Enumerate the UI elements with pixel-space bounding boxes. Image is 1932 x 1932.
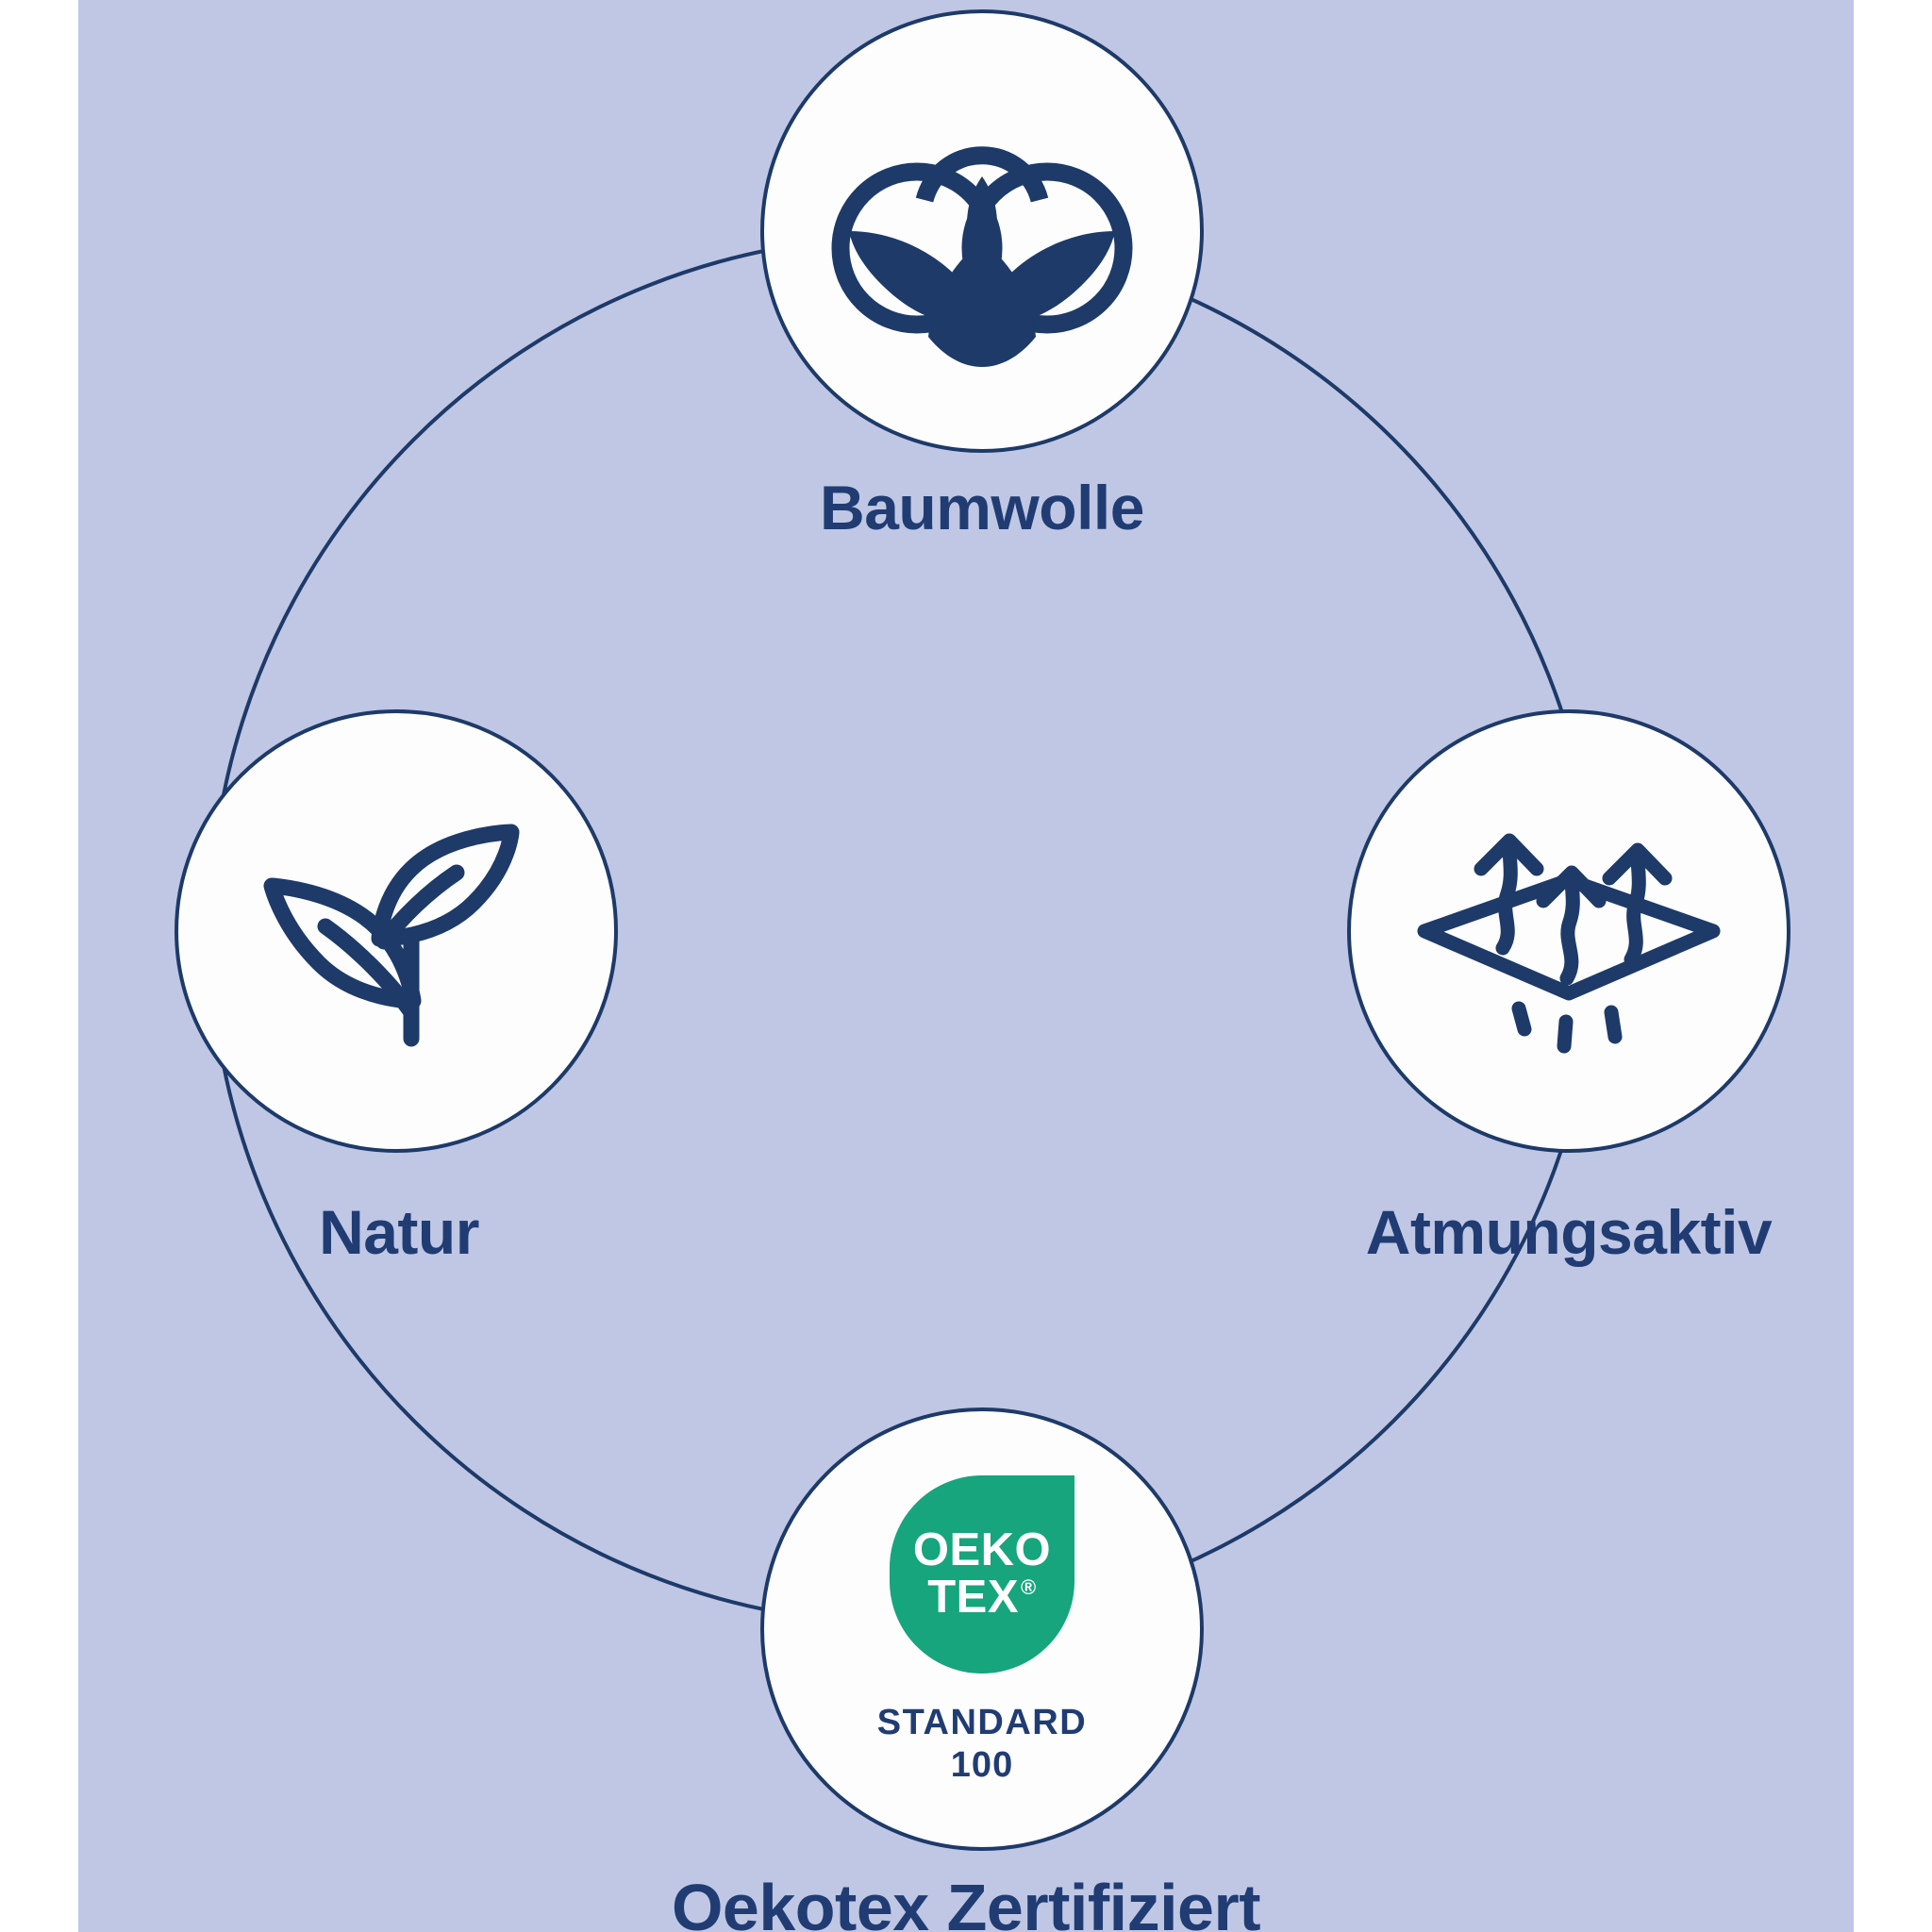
breathable-fabric-arrows-icon [1413, 790, 1724, 1073]
sprout-leaves-icon [255, 799, 538, 1063]
oeko-brand-line1: OEKO [913, 1527, 1051, 1574]
label-baumwolle: Baumwolle [760, 472, 1204, 543]
node-natur[interactable] [175, 709, 618, 1153]
oeko-brand-line2: TEX® [927, 1574, 1037, 1622]
label-natur: Natur [135, 1196, 663, 1268]
oeko-standard-label: STANDARD [877, 1702, 1087, 1744]
oeko-brand-tex: TEX [927, 1574, 1019, 1622]
infographic-canvas: Baumwolle [0, 0, 1932, 1932]
node-atmungsaktiv[interactable] [1347, 709, 1790, 1153]
node-oekotex[interactable]: OEKO TEX® STANDARD 100 [760, 1407, 1204, 1851]
cotton-boll-icon [826, 90, 1138, 373]
oeko-tex-droplet-icon: OEKO TEX® [890, 1475, 1074, 1674]
label-atmungsaktiv: Atmungsaktiv [1305, 1196, 1833, 1268]
node-baumwolle[interactable] [760, 9, 1204, 453]
oeko-tex-standard-100-badge: OEKO TEX® STANDARD 100 [826, 1472, 1138, 1787]
label-oekotex-zertifiziert: Oekotex Zertifiziert [400, 1870, 1532, 1932]
feature-wheel-panel: Baumwolle [78, 0, 1854, 1932]
registered-mark-icon: ® [1021, 1577, 1037, 1598]
oeko-standard-number: 100 [951, 1744, 1013, 1787]
